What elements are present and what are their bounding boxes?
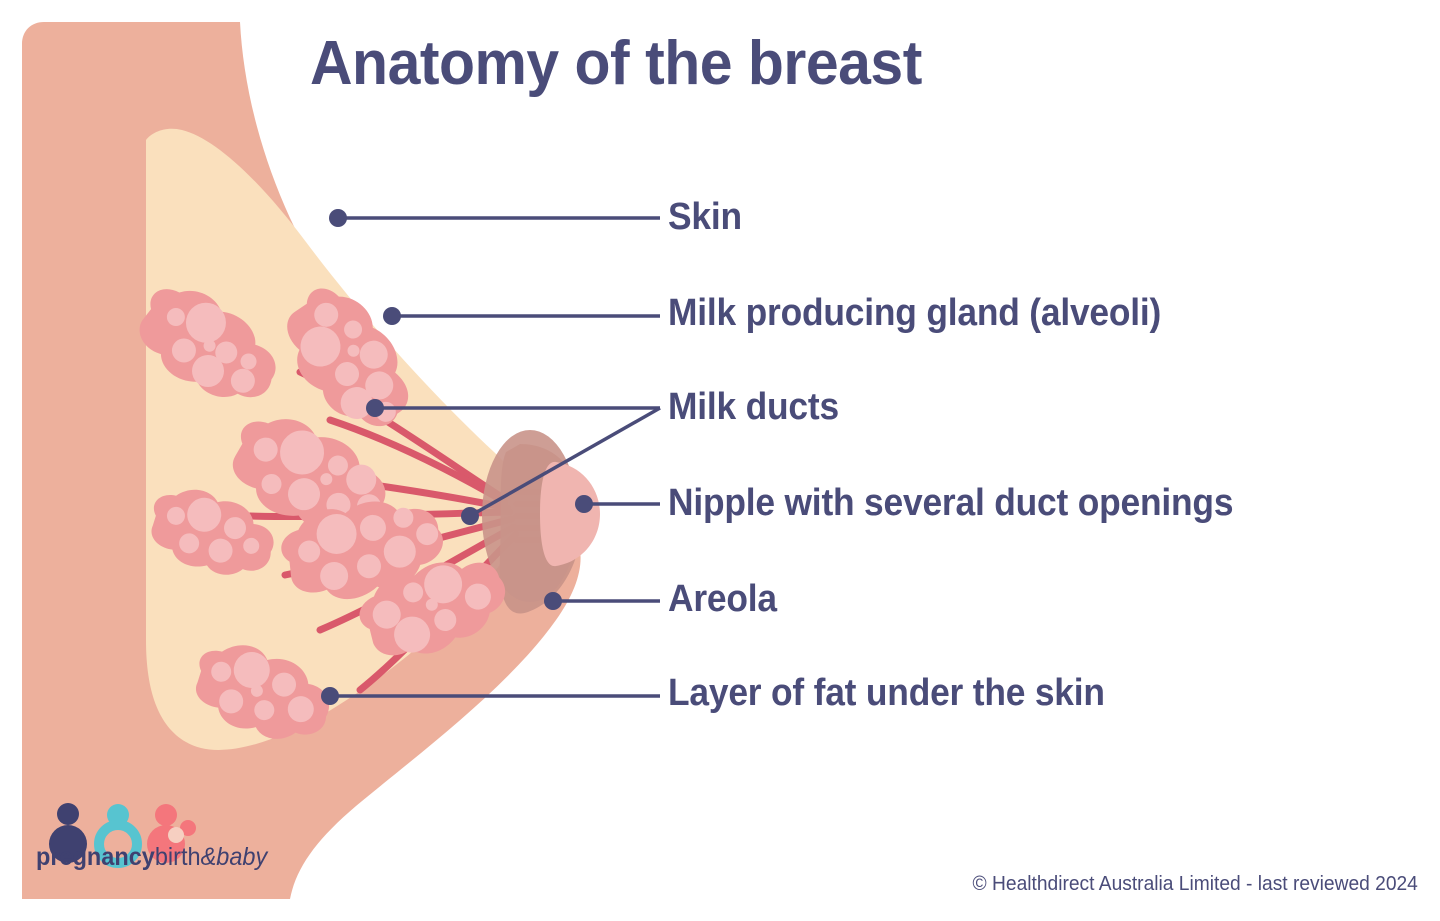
breast-anatomy-infographic: Anatomy of the breast Skin Milk producin… <box>0 0 1440 921</box>
leader-dot-layer-of-fat <box>321 687 339 705</box>
copyright-notice: © Healthdirect Australia Limited - last … <box>973 874 1418 894</box>
nipple-shape <box>540 462 600 566</box>
label-layer-of-fat: Layer of fat under the skin <box>668 674 1105 712</box>
leader-dot-milk-ducts <box>461 507 479 525</box>
label-areola: Areola <box>668 580 777 618</box>
breast-anatomy-illustration <box>0 0 1440 921</box>
label-milk-ducts: Milk ducts <box>668 388 839 426</box>
label-skin: Skin <box>668 198 742 236</box>
leader-dot-milk-ducts <box>366 399 384 417</box>
label-nipple: Nipple with several duct openings <box>668 484 1233 522</box>
logo-word-birth: birth <box>155 843 201 871</box>
leader-dot-milk-producing-gland <box>383 307 401 325</box>
leader-dot-areola <box>544 592 562 610</box>
leader-dot-skin <box>329 209 347 227</box>
logo-word-pregnancy: pregnancy <box>36 843 155 871</box>
logo-wordmark: pregnancybirth&baby <box>36 845 267 870</box>
leader-dot-nipple <box>575 495 593 513</box>
label-milk-producing-gland: Milk producing gland (alveoli) <box>668 294 1161 332</box>
page-title: Anatomy of the breast <box>310 33 922 95</box>
logo-word-baby: &baby <box>201 843 268 871</box>
